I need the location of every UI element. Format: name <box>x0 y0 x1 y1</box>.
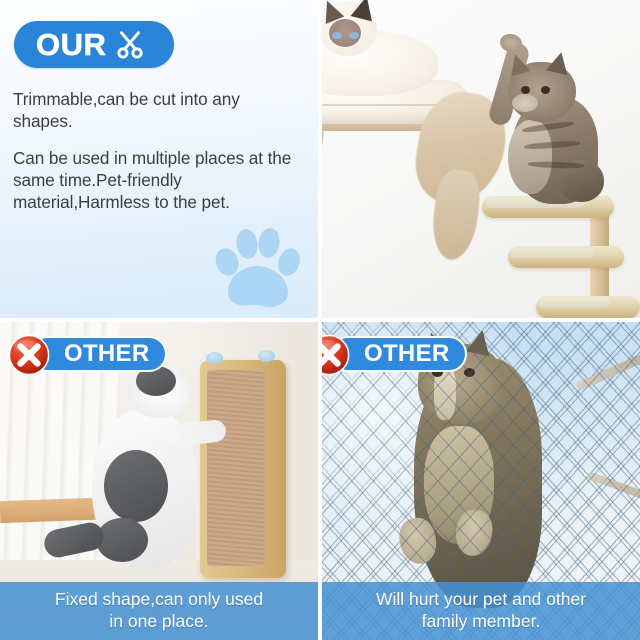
quadrant-other-net: OTHER Will hurt your pet and other famil… <box>322 322 640 640</box>
tabby-kitten-muzzle <box>512 94 538 112</box>
infographic-board: OUR Trimmable,can be cut into any shapes… <box>0 0 640 640</box>
feature-item-trimmable: Trimmable,can be cut into any shapes. <box>13 88 301 133</box>
bw-cat-back-patch <box>104 450 168 522</box>
feature-list: Trimmable,can be cut into any shapes. Ca… <box>13 88 301 228</box>
bw-cat-hip-patch <box>96 518 148 562</box>
other-badge-label: OTHER <box>64 342 150 366</box>
red-x-icon <box>322 334 350 376</box>
other-badge-pill: OTHER <box>330 336 467 372</box>
caption-line-2: family member. <box>328 611 634 632</box>
our-product-photo <box>322 0 640 318</box>
wall-step-2-surface <box>511 248 594 258</box>
ragdoll-ear-right <box>351 0 378 21</box>
our-badge-label: OUR <box>36 29 106 60</box>
ragdoll-eye-left <box>332 32 342 39</box>
scissors-icon <box>115 29 145 60</box>
red-x-icon <box>8 334 50 376</box>
other-badge-pill: OTHER <box>30 336 167 372</box>
net-cat-eye-right <box>464 368 475 377</box>
tabby-kitten-eye-left <box>521 86 530 94</box>
caption-line-2: in one place. <box>6 611 312 632</box>
wall-shelf-brace <box>322 130 324 164</box>
quadrant-other-fixed-scratcher: OTHER Fixed shape,can only used in one p… <box>0 322 318 640</box>
suction-cup-right <box>258 350 275 362</box>
our-badge: OUR <box>14 21 174 68</box>
wall-step-3-surface <box>539 298 610 308</box>
quadrant-our-features: OUR Trimmable,can be cut into any shapes… <box>0 0 318 318</box>
caption-will-hurt: Will hurt your pet and other family memb… <box>322 582 640 640</box>
other-badge-label: OTHER <box>364 342 450 366</box>
quadrant-our-photo <box>322 0 640 318</box>
ragdoll-cat-head <box>322 2 377 56</box>
feature-item-multiuse: Can be used in multiple places at the sa… <box>13 147 301 214</box>
net-cat-ear-right <box>466 328 494 356</box>
ragdoll-eye-right <box>349 32 359 39</box>
cardboard-scratch-pad <box>207 370 265 566</box>
wall-step-2 <box>508 246 624 268</box>
cushion-seam <box>322 104 448 106</box>
caption-fixed-shape: Fixed shape,can only used in one place. <box>0 582 318 640</box>
tabby-kitten-ear-right <box>546 50 572 75</box>
caption-line-1: Will hurt your pet and other <box>376 589 586 609</box>
paw-print-icon <box>205 222 309 314</box>
suction-cup-left <box>206 352 223 364</box>
wall-step-3 <box>536 296 640 318</box>
tabby-kitten-eye-right <box>541 86 550 94</box>
caption-line-1: Fixed shape,can only used <box>55 589 263 609</box>
